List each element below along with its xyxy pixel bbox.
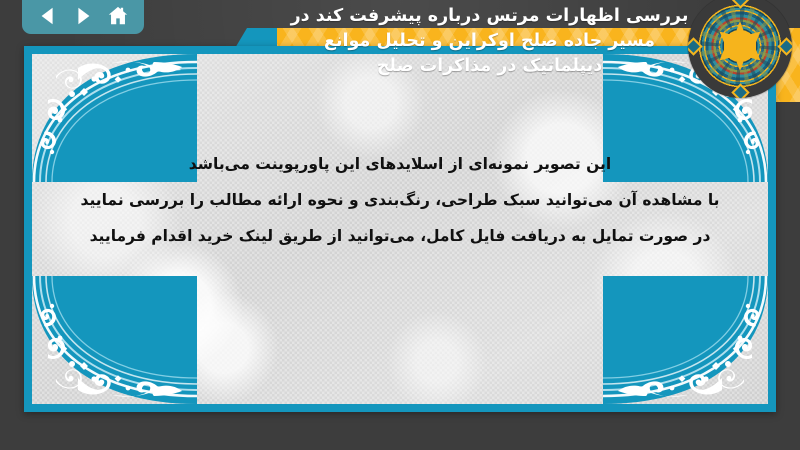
slide-body-text: این تصویر نمونه‌ای از اسلایدهای این پاور… <box>32 146 768 254</box>
slide-title-line-1: بررسی اظهارات مرتس درباره پیشرفت کند در <box>265 4 714 29</box>
arabesque-corner-icon-bottom-right <box>603 276 768 404</box>
arabesque-corner-icon-bottom-left <box>32 276 197 404</box>
slide-content-area: این تصویر نمونه‌ای از اسلایدهای این پاور… <box>32 54 768 404</box>
slide-body-line-1: این تصویر نمونه‌ای از اسلایدهای این پاور… <box>58 146 742 182</box>
navigation-toolbar <box>22 0 144 34</box>
slide-frame: این تصویر نمونه‌ای از اسلایدهای این پاور… <box>24 46 776 412</box>
home-icon[interactable] <box>107 5 129 27</box>
triangle-right-icon[interactable] <box>72 5 94 27</box>
slide-title-line-2: مسیر جاده صلح اوکراین و تحلیل موانع <box>265 29 714 54</box>
slide-body-line-2: با مشاهده آن می‌توانید سبک طراحی، رنگ‌بن… <box>58 182 742 218</box>
slide-viewer-canvas: بررسی اظهارات مرتس درباره پیشرفت کند در … <box>0 0 800 450</box>
slide-body-line-3: در صورت تمایل به دریافت فایل کامل، می‌تو… <box>58 218 742 254</box>
triangle-left-icon[interactable] <box>37 5 59 27</box>
slide-title-line-3: دیپلماتیک در مذاکرات صلح <box>265 54 714 79</box>
